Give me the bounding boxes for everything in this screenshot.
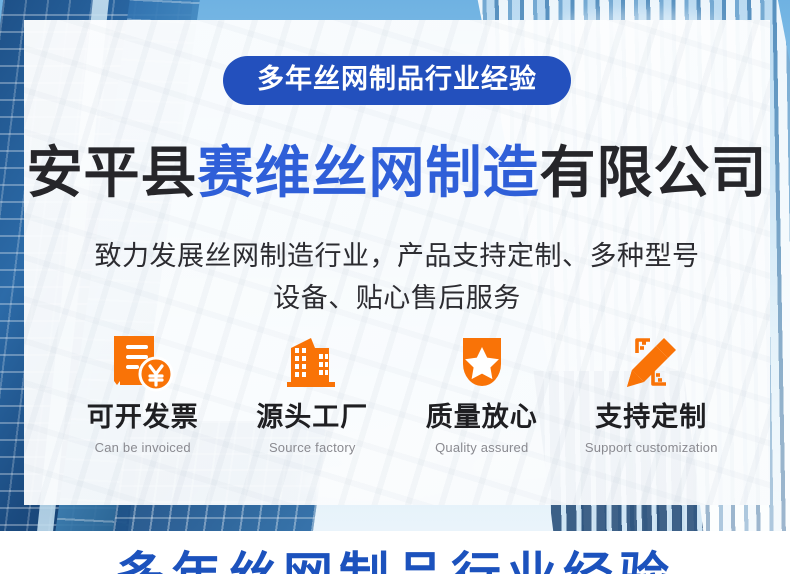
content-panel: 多年丝网制品行业经验 安平县赛维丝网制造有限公司 致力发展丝网制造行业，产品支持… [24, 20, 770, 505]
feature-subtitle: Source factory [228, 440, 398, 455]
feature-title: 可开发票 [58, 403, 228, 433]
feature-list: 可开发票 Can be invoiced [58, 332, 736, 455]
company-subtitle: 致力发展丝网制造行业，产品支持定制、多种型号 设备、贴心售后服务 [84, 236, 710, 320]
feature-item-quality: 质量放心 Quality assured [397, 332, 567, 455]
feature-title: 源头工厂 [228, 403, 398, 433]
company-subtitle-line2: 设备、贴心售后服务 [84, 278, 710, 320]
company-title-highlight: 赛维丝网制造 [198, 141, 540, 204]
company-subtitle-line1: 致力发展丝网制造行业，产品支持定制、多种型号 [84, 236, 710, 278]
shield-star-icon [397, 332, 567, 394]
factory-building-icon [228, 332, 398, 394]
feature-item-factory: 源头工厂 Source factory [228, 332, 398, 455]
feature-item-invoice: 可开发票 Can be invoiced [58, 332, 228, 455]
feature-item-customization: 支持定制 Support customization [567, 332, 737, 455]
feature-title: 支持定制 [567, 403, 737, 433]
pencil-ruler-icon [567, 332, 737, 394]
experience-badge: 多年丝网制品行业经验 [223, 56, 571, 105]
feature-subtitle: Can be invoiced [58, 440, 228, 455]
bottom-section-heading: 多年丝网制品行业经验 [0, 551, 790, 574]
bottom-section: 多年丝网制品行业经验 [0, 531, 790, 574]
feature-subtitle: Quality assured [397, 440, 567, 455]
company-title-suffix: 有限公司 [540, 141, 768, 204]
company-title-prefix: 安平县 [27, 141, 198, 204]
badge-row: 多年丝网制品行业经验 [24, 56, 770, 105]
page-root: 多年丝网制品行业经验 安平县赛维丝网制造有限公司 致力发展丝网制造行业，产品支持… [0, 0, 790, 574]
company-title: 安平县赛维丝网制造有限公司 [24, 142, 770, 205]
feature-subtitle: Support customization [567, 440, 737, 455]
invoice-receipt-icon [58, 332, 228, 394]
feature-title: 质量放心 [397, 403, 567, 433]
